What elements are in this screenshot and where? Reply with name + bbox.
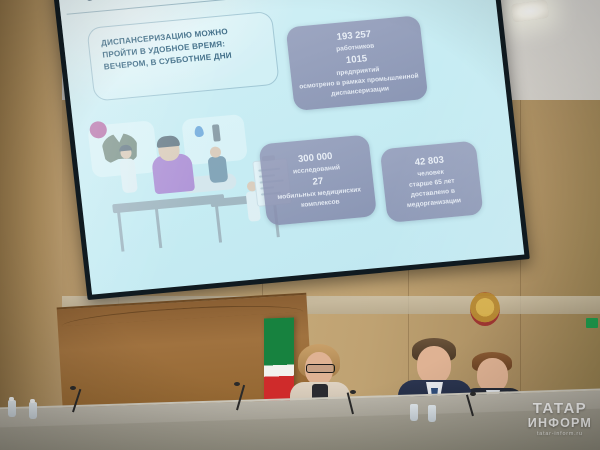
- table-leg: [155, 208, 162, 248]
- presentation-slide: ОВЫШЕНИЕ ДОСТУПНОСТИ. Итоги 2025 г. 2026…: [58, 0, 525, 295]
- patient-hair: [156, 135, 180, 148]
- screenshot-scene: ОВЫШЕНИЕ ДОСТУПНОСТИ. Итоги 2025 г. 2026…: [0, 0, 600, 450]
- glasses-icon: [306, 364, 335, 373]
- microphone-head: [234, 382, 240, 386]
- watermark: ТАТАР ИНФОРМ tatar-inform.ru: [528, 401, 592, 438]
- head: [417, 346, 451, 384]
- head: [477, 358, 508, 392]
- microphone-head: [470, 392, 476, 396]
- exit-sign-icon: [586, 318, 598, 328]
- watermark-url: tatar-inform.ru: [528, 432, 592, 438]
- watermark-line-2: ИНФОРМ: [528, 417, 592, 431]
- water-bottle: [410, 404, 418, 421]
- table-leg: [117, 212, 124, 252]
- water-bottle: [8, 400, 16, 417]
- water-bottle: [29, 402, 37, 419]
- desk-front-panel: [0, 408, 600, 450]
- water-bottle: [428, 405, 436, 422]
- watermark-line-1: ТАТАР: [528, 401, 592, 418]
- exam-table: [112, 194, 225, 213]
- state-emblem: [470, 292, 500, 326]
- slide-headline-text: ДИСПАНСЕРИЗАЦИЮ МОЖНО ПРОЙТИ В УДОБНОЕ В…: [101, 23, 266, 74]
- table-leg: [215, 203, 222, 243]
- projection-screen: ОВЫШЕНИЕ ДОСТУПНОСТИ. Итоги 2025 г. 2026…: [52, 0, 530, 300]
- stat-card-workers: 193 257 работников 1015 предприятий осмо…: [286, 15, 429, 111]
- bottle-cap: [9, 397, 14, 401]
- stat-card-elderly: 42 803 человек старше 65 лет доставлено …: [380, 141, 484, 223]
- doctor-left-hair: [119, 144, 133, 151]
- microphone-head: [70, 386, 76, 390]
- doctor-mid-body: [208, 156, 229, 184]
- stat-card-research: 300 000 исследований 27 мобильных медици…: [258, 134, 377, 226]
- bottle-cap: [30, 399, 35, 403]
- microphone-head: [350, 390, 356, 394]
- wall-left-column: [0, 0, 62, 450]
